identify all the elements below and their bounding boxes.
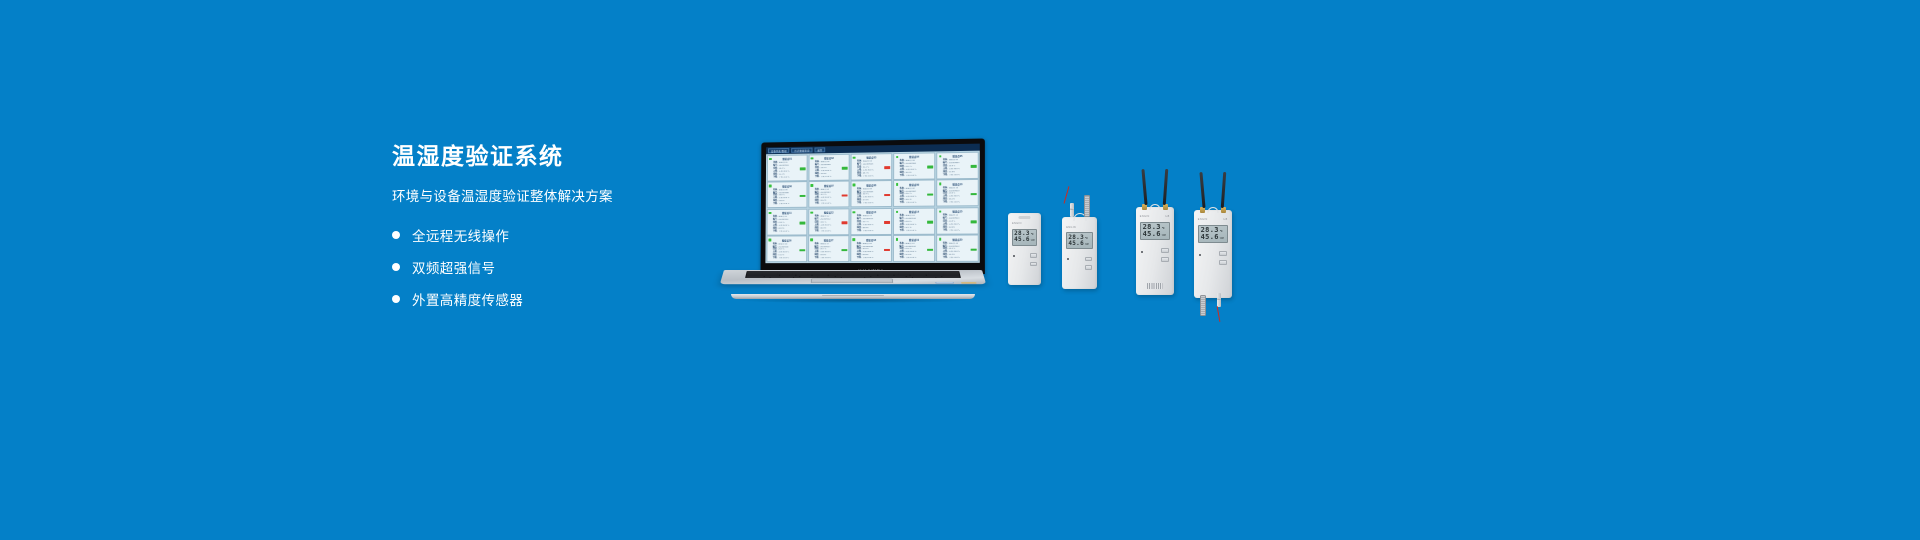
monitor-card[interactable]: 验证点08名称:验证点 08编号:202309008温度:30.9℃上限:上限 … <box>850 180 892 207</box>
laptop-lid-notch <box>822 295 884 297</box>
card-status-icon <box>811 211 813 213</box>
card-lower-row: 下限:下限 15.0℃ <box>895 257 932 260</box>
card-lower-row: 下限:下限 15.0℃ <box>939 201 977 204</box>
antenna-left-icon <box>1141 169 1147 205</box>
card-lower-row: 下限:下限 15.0℃ <box>810 230 847 233</box>
monitor-card[interactable]: 验证点20名称:验证点 20编号:202309020温度:24.5℃上限:上限 … <box>936 235 979 262</box>
card-title: 验证点12 <box>811 211 847 215</box>
card-field-value: 下限 15.0℃ <box>820 203 847 206</box>
card-field-value: 下限 15.0℃ <box>905 229 932 232</box>
lcd-humidity-unit: %RH <box>1085 244 1089 246</box>
antenna-right-icon <box>1221 172 1227 208</box>
card-status-icon <box>939 183 941 185</box>
monitor-card[interactable]: 验证点12名称:验证点 12编号:202309012温度:33.1℃上限:上限 … <box>808 208 850 235</box>
device-button-up[interactable] <box>1085 257 1092 261</box>
feature-label: 外置高精度传感器 <box>412 289 523 309</box>
processor-sticker <box>935 282 954 284</box>
card-lower-row: 下限:下限 15.0℃ <box>769 230 805 233</box>
card-title: 验证点10 <box>939 182 977 186</box>
card-title: 验证点16 <box>769 238 805 242</box>
card-lower-row: 下限:下限 15.0℃ <box>939 174 977 177</box>
card-status-icon <box>896 156 898 158</box>
card-status-icon <box>895 238 897 240</box>
device-button-down[interactable] <box>1030 262 1037 266</box>
card-field-value: 下限 15.0℃ <box>820 257 847 260</box>
card-status-icon <box>811 238 813 240</box>
status-led-icon <box>1013 255 1015 257</box>
card-status-icon <box>769 239 771 241</box>
bullet-icon <box>392 263 400 271</box>
keyboard-key[interactable] <box>818 277 841 278</box>
usb-cap-icon <box>1018 216 1031 220</box>
card-field-value: 下限 15.0℃ <box>863 202 890 205</box>
card-field-label: 下限: <box>769 176 778 179</box>
feature-label: 双频超强信号 <box>412 257 495 277</box>
device-model-label: H8 <box>1166 215 1170 218</box>
list-item: 双频超强信号 <box>392 257 722 277</box>
laptop-deck <box>720 270 986 284</box>
device-button-up[interactable] <box>1219 251 1227 255</box>
monitor-card-grid: 验证点01名称:验证点 01编号:202309001温度:24.3℃上限:上限 … <box>765 151 979 263</box>
lcd-humidity-line: 45.6 %RH <box>1068 241 1090 247</box>
laptop-lid: 设备列表/数据 历史数据查询 报警 验证点01名称:验证点 01编号:20230… <box>761 138 985 274</box>
card-field-value: 下限 15.0℃ <box>821 175 848 178</box>
page-subtitle: 环境与设备温湿度验证整体解决方案 <box>392 188 722 206</box>
device-lcd-display: 28.3 ℃ 45.6 %RH <box>1140 222 1170 240</box>
list-item: 外置高精度传感器 <box>392 289 722 309</box>
card-lower-row: 下限:下限 15.0℃ <box>853 230 890 233</box>
card-lower-row: 下限:下限 15.0℃ <box>811 175 847 178</box>
lcd-humidity-line: 45.6 %RH <box>1014 237 1035 243</box>
card-lower-row: 下限:下限 15.0℃ <box>853 202 890 205</box>
device-button-down[interactable] <box>1161 257 1169 261</box>
card-lower-row: 下限:下限 15.0℃ <box>769 176 805 179</box>
lcd-humidity-value: 45.6 <box>1143 231 1161 238</box>
card-status-icon <box>769 158 771 160</box>
card-field-value: 下限 15.0℃ <box>906 174 933 177</box>
feature-label: 全远程无线操作 <box>412 225 509 245</box>
feature-list: 全远程无线操作 双频超强信号 外置高精度传感器 <box>392 225 722 309</box>
sensor-vent-icon <box>1147 283 1163 289</box>
card-field-label: 下限: <box>896 174 905 177</box>
card-lower-row: 下限:下限 15.0℃ <box>896 174 933 177</box>
card-title: 验证点07 <box>811 183 847 187</box>
tab-history-query[interactable]: 历史数据查询 <box>792 148 813 153</box>
keyboard-key[interactable] <box>865 277 888 278</box>
card-status-icon <box>853 156 855 158</box>
card-field-value: 下限 15.0℃ <box>949 201 977 204</box>
card-lower-row: 下限:下限 15.0℃ <box>895 229 932 232</box>
keyboard-key[interactable] <box>794 277 817 278</box>
monitor-card[interactable]: 验证点16名称:验证点 16编号:202309016温度:26.3℃上限:上限 … <box>766 236 807 263</box>
keyboard-key[interactable] <box>746 277 769 278</box>
device-cluster: ENGIN 28.3 ℃ 45.6 %RH ENGIN 28.3 <box>1000 180 1260 330</box>
device-button-down[interactable] <box>1219 260 1227 264</box>
status-led-icon <box>1141 251 1143 253</box>
card-field-value: 下限 15.0℃ <box>778 257 804 260</box>
device-lcd-display: 28.3 ℃ 45.6 %RH <box>1198 225 1228 243</box>
monitor-card[interactable]: 验证点02名称:验证点 02编号:202309002温度:23.9℃上限:上限 … <box>808 154 849 181</box>
card-lower-row: 下限:下限 15.0℃ <box>939 229 977 232</box>
device-brand-logo: ENGIN <box>1140 215 1150 218</box>
card-lower-row: 下限:下限 15.0℃ <box>853 175 890 178</box>
hero-banner: 温湿度验证系统 环境与设备温湿度验证整体解决方案 全远程无线操作 双频超强信号 … <box>0 0 1920 540</box>
monitor-card[interactable]: 验证点18名称:验证点 18编号:202309018温度:32.0℃上限:上限 … <box>850 235 892 262</box>
card-title: 验证点04 <box>896 155 933 160</box>
page-title: 温湿度验证系统 <box>392 142 722 171</box>
monitor-card[interactable]: 验证点07名称:验证点 07编号:202309007温度:32.5℃上限:上限 … <box>808 181 849 208</box>
status-led-icon <box>1067 258 1069 260</box>
probe-cable-icon <box>1064 186 1070 204</box>
monitor-card[interactable]: 验证点04名称:验证点 04编号:202309004温度:25.1℃上限:上限 … <box>893 152 935 179</box>
card-field-value: 下限 15.0℃ <box>863 175 890 178</box>
hero-text-block: 温湿度验证系统 环境与设备温湿度验证整体解决方案 全远程无线操作 双频超强信号 … <box>392 142 722 321</box>
antenna-left-icon <box>1199 172 1205 208</box>
monitor-card[interactable]: 验证点09名称:验证点 09编号:202309009温度:24.2℃上限:上限 … <box>893 180 935 207</box>
device-usb-data-logger: ENGIN 28.3 ℃ 45.6 %RH <box>1008 213 1041 285</box>
lcd-humidity-line: 45.6 %RH <box>1143 231 1168 238</box>
laptop-trackpad[interactable] <box>810 279 892 283</box>
card-title: 验证点17 <box>810 238 847 242</box>
card-title: 验证点20 <box>939 237 977 241</box>
monitor-card[interactable]: 验证点10名称:验证点 10编号:202309010温度:23.6℃上限:上限 … <box>936 179 979 206</box>
card-field-value: 下限 15.0℃ <box>820 230 847 233</box>
card-field-label: 下限: <box>811 203 820 206</box>
card-status-icon <box>811 157 813 159</box>
status-led-icon <box>1199 254 1201 256</box>
card-field-value: 下限 15.0℃ <box>949 257 977 260</box>
keyboard-key[interactable] <box>936 277 959 278</box>
laptop-keyboard[interactable] <box>745 271 961 278</box>
card-field-label: 下限: <box>853 175 862 178</box>
device-external-probe-logger: ENGIN 28.3 ℃ 45.6 %RH <box>1062 217 1097 289</box>
brand-sticker <box>960 282 976 284</box>
monitor-card[interactable]: 验证点14名称:验证点 14编号:202309014温度:24.0℃上限:上限 … <box>893 207 935 234</box>
card-title: 验证点03 <box>853 155 890 160</box>
bullet-icon <box>392 231 400 239</box>
keyboard-key[interactable] <box>913 277 936 278</box>
keyboard-key[interactable] <box>770 277 793 278</box>
card-status-icon <box>939 210 941 212</box>
card-title: 验证点02 <box>811 156 847 161</box>
antenna-right-icon <box>1163 169 1169 205</box>
card-title: 验证点11 <box>769 211 805 215</box>
card-field-label: 下限: <box>895 202 904 205</box>
card-field-label: 下限: <box>853 202 862 205</box>
card-status-icon <box>769 212 771 214</box>
card-title: 验证点15 <box>939 209 977 213</box>
card-field-value: 下限 15.0℃ <box>905 202 932 205</box>
card-status-icon <box>939 155 941 157</box>
card-field-value: 下限 15.0℃ <box>779 203 805 206</box>
card-title: 验证点01 <box>769 157 805 161</box>
lcd-humidity-unit: %RH <box>1162 235 1166 237</box>
card-status-icon <box>896 183 898 185</box>
temperature-probe-icon <box>1200 295 1206 316</box>
card-field-value: 下限 15.0℃ <box>949 174 977 177</box>
monitor-card[interactable]: 验证点05名称:验证点 05编号:202309005温度:24.8℃上限:上限 … <box>936 151 979 178</box>
lcd-humidity-value: 45.6 <box>1068 241 1084 247</box>
card-field-label: 下限: <box>895 230 904 233</box>
card-title: 验证点08 <box>853 183 890 187</box>
device-dual-antenna-wireless-logger: ENGIN H8 28.3 ℃ 45.6 %RH <box>1136 207 1174 295</box>
device-lcd-display: 28.3 ℃ 45.6 %RH <box>1066 232 1093 249</box>
monitor-card[interactable]: 验证点15名称:验证点 15编号:202309015温度:25.8℃上限:上限 … <box>936 207 979 234</box>
card-field-value: 下限 15.0℃ <box>778 230 804 233</box>
card-field-label: 下限: <box>853 230 862 233</box>
card-field-value: 下限 15.0℃ <box>862 257 889 260</box>
device-button-up[interactable] <box>1030 253 1037 257</box>
list-item: 全远程无线操作 <box>392 225 722 245</box>
card-status-icon <box>769 185 771 187</box>
card-lower-row: 下限:下限 15.0℃ <box>810 257 847 260</box>
card-lower-row: 下限:下限 15.0℃ <box>939 257 977 260</box>
laptop-screen: 设备列表/数据 历史数据查询 报警 验证点01名称:验证点 01编号:20230… <box>765 144 979 264</box>
lcd-humidity-line: 45.6 %RH <box>1201 234 1226 241</box>
card-title: 验证点13 <box>853 210 890 214</box>
card-field-value: 下限 15.0℃ <box>949 229 977 232</box>
probe-cable-icon <box>1217 306 1221 322</box>
keyboard-key[interactable] <box>841 277 864 278</box>
device-dual-antenna-wireless-logger-probes: ENGIN H8 28.3 ℃ 45.6 %RH <box>1194 210 1232 298</box>
card-field-label: 下限: <box>810 230 819 233</box>
device-model-label: H8 <box>1224 218 1228 221</box>
card-lower-row: 下限:下限 15.0℃ <box>769 257 805 260</box>
tab-alarms[interactable]: 报警 <box>814 147 825 152</box>
card-lower-row: 下限:下限 15.0℃ <box>853 257 890 260</box>
lcd-humidity-value: 45.6 <box>1014 237 1030 243</box>
keyboard-key[interactable] <box>889 277 912 278</box>
card-lower-row: 下限:下限 15.0℃ <box>895 202 932 205</box>
device-brand-logo: ENGIN <box>1066 226 1076 229</box>
card-status-icon <box>939 238 941 240</box>
keyboard-row <box>746 277 959 278</box>
card-title: 验证点06 <box>769 184 805 188</box>
card-title: 验证点05 <box>939 154 977 159</box>
hanging-hook-icon <box>1150 204 1161 210</box>
card-field-label: 下限: <box>853 257 862 260</box>
card-lower-row: 下限:下限 15.0℃ <box>769 203 805 206</box>
card-title: 验证点14 <box>895 210 932 214</box>
device-lcd-display: 28.3 ℃ 45.6 %RH <box>1012 229 1038 246</box>
card-status-icon <box>853 211 855 213</box>
lcd-humidity-unit: %RH <box>1220 238 1224 240</box>
monitor-card[interactable]: 验证点11名称:验证点 11编号:202309011温度:25.4℃上限:上限 … <box>766 209 807 236</box>
card-lower-row: 下限:下限 15.0℃ <box>811 203 847 206</box>
card-field-label: 下限: <box>769 230 778 233</box>
monitor-card[interactable]: 验证点13名称:验证点 13编号:202309013温度:31.7℃上限:上限 … <box>850 208 892 235</box>
monitor-card[interactable]: 验证点03名称:验证点 03编号:202309003温度:31.2℃上限:上限 … <box>850 153 892 180</box>
card-title: 验证点18 <box>853 238 890 242</box>
card-status-icon <box>853 184 855 186</box>
device-brand-logo: ENGIN <box>1198 218 1208 221</box>
card-field-label: 下限: <box>769 203 778 206</box>
card-title: 验证点09 <box>896 182 933 186</box>
laptop-shadow <box>740 298 966 303</box>
lcd-humidity-unit: %RH <box>1031 240 1035 242</box>
card-field-label: 下限: <box>939 257 948 260</box>
card-field-label: 下限: <box>895 257 904 260</box>
card-status-icon <box>811 184 813 186</box>
card-status-icon <box>896 211 898 213</box>
lcd-humidity-value: 45.6 <box>1201 234 1219 241</box>
card-field-label: 下限: <box>810 257 819 260</box>
device-brand-logo: ENGIN <box>1012 222 1022 225</box>
monitor-card[interactable]: 验证点01名称:验证点 01编号:202309001温度:24.3℃上限:上限 … <box>767 154 808 181</box>
hanging-hook-icon <box>1208 207 1219 213</box>
card-field-label: 下限: <box>769 257 778 260</box>
device-button-up[interactable] <box>1161 248 1169 252</box>
monitor-card[interactable]: 验证点06名称:验证点 06编号:202309006温度:26.0℃上限:上限 … <box>767 181 808 208</box>
laptop-product-image: 设备列表/数据 历史数据查询 报警 验证点01名称:验证点 01编号:20230… <box>718 140 988 300</box>
card-field-value: 下限 15.0℃ <box>779 176 805 179</box>
card-field-value: 下限 15.0℃ <box>863 230 890 233</box>
monitor-card[interactable]: 验证点19名称:验证点 19编号:202309019温度:25.2℃上限:上限 … <box>893 235 935 262</box>
tab-device-list[interactable]: 设备列表/数据 <box>768 148 790 153</box>
bullet-icon <box>392 295 400 303</box>
device-button-down[interactable] <box>1085 265 1092 269</box>
card-field-label: 下限: <box>939 229 948 232</box>
card-field-label: 下限: <box>939 202 948 205</box>
card-field-label: 下限: <box>939 174 948 177</box>
card-title: 验证点19 <box>895 237 932 241</box>
card-status-icon <box>853 238 855 240</box>
monitor-card[interactable]: 验证点17名称:验证点 17编号:202309017温度:24.7℃上限:上限 … <box>808 236 850 263</box>
card-field-label: 下限: <box>811 176 820 179</box>
card-field-value: 下限 15.0℃ <box>905 257 932 260</box>
temperature-probe-icon <box>1084 195 1090 217</box>
